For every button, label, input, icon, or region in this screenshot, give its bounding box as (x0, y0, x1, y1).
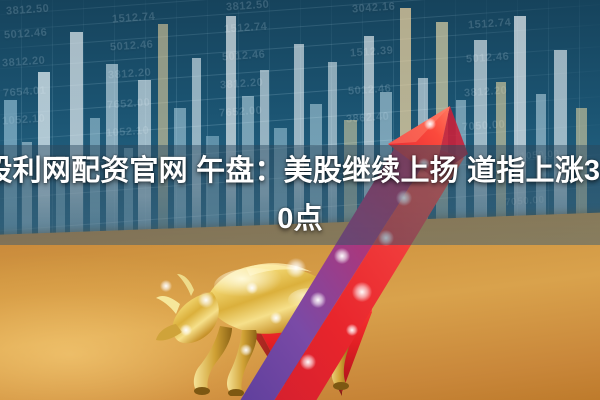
sparkle (198, 292, 214, 308)
sparkle (346, 324, 358, 336)
sparkle (180, 324, 192, 336)
headline-line-2: 0点 (277, 195, 323, 243)
page-title: 股利网配资官网 午盘：美股继续上扬 道指上涨30 0点 (0, 145, 600, 245)
sparkle (246, 282, 258, 294)
sparkle (270, 312, 282, 324)
sparkle (240, 344, 252, 356)
sparkle (300, 354, 316, 370)
sparkle (310, 292, 326, 308)
sparkle (286, 258, 306, 278)
sparkle (352, 282, 372, 302)
headline-line-1: 股利网配资官网 午盘：美股继续上扬 道指上涨30 (0, 147, 600, 195)
sparkle (334, 248, 350, 264)
sparkle (160, 280, 172, 292)
news-thumbnail: 3812.505012.463812.207654.011052.101512.… (0, 0, 600, 400)
sparkle (424, 118, 436, 130)
